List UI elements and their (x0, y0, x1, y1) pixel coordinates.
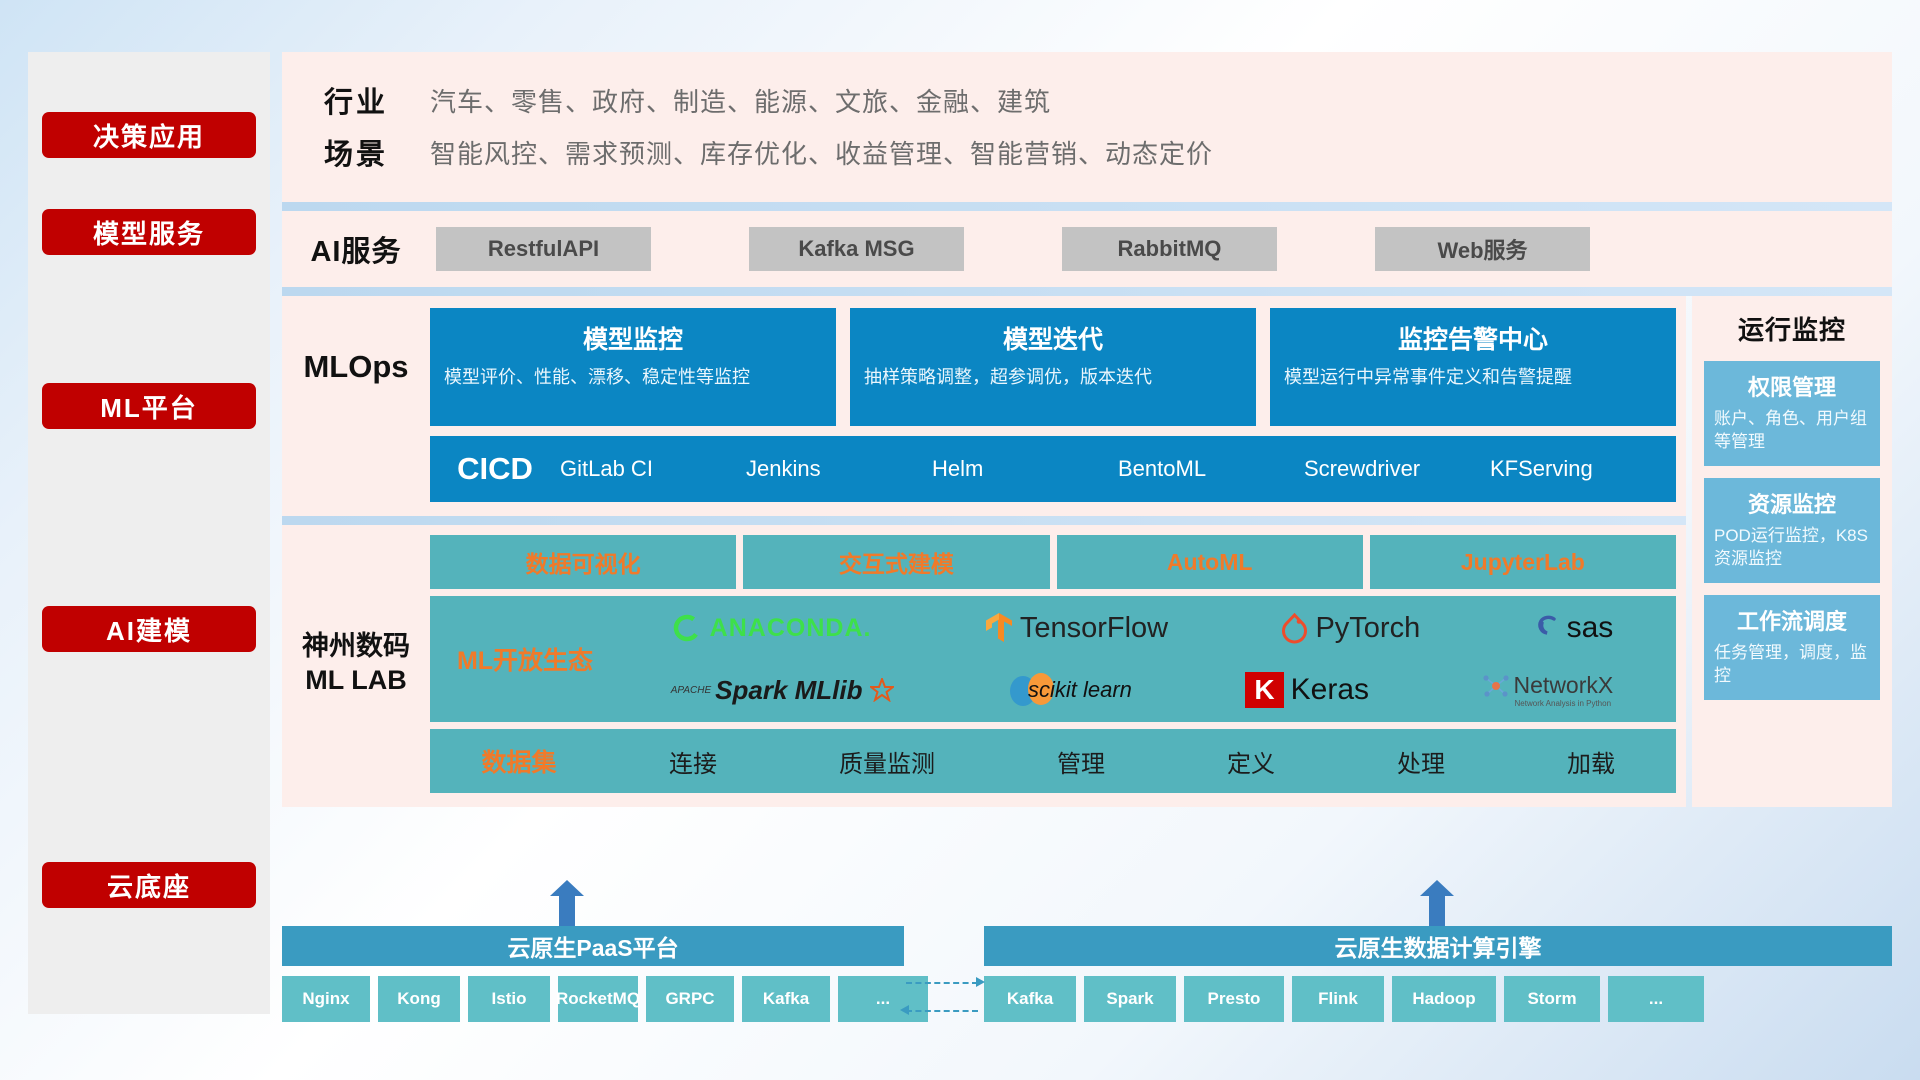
dataset-capability-connect[interactable]: 连接 (669, 744, 717, 779)
mlops-card-alert-center[interactable]: 监控告警中心 模型运行中异常事件定义和告警提醒 (1270, 308, 1676, 426)
card-desc: 模型评价、性能、漂移、稳定性等监控 (444, 365, 822, 389)
mlops-band: MLOps 模型监控 模型评价、性能、漂移、稳定性等监控 模型迭代 抽样策略调整… (282, 296, 1686, 516)
ecosystem-logo-line-2: APACHE Spark MLlib (614, 661, 1670, 719)
platform-column: MLOps 模型监控 模型评价、性能、漂移、稳定性等监控 模型迭代 抽样策略调整… (282, 296, 1686, 807)
platform-and-monitoring-section: MLOps 模型监控 模型评价、性能、漂移、稳定性等监控 模型迭代 抽样策略调整… (282, 296, 1892, 807)
scikit-learn-logo-text: scikit learn (1028, 677, 1132, 703)
rail-chip-cloud-base[interactable]: 云底座 (42, 862, 256, 908)
node-hadoop[interactable]: Hadoop (1392, 976, 1496, 1022)
sas-icon (1534, 613, 1560, 643)
ml-lab-label: 神州数码 ML LAB (282, 535, 430, 793)
card-desc: 模型运行中异常事件定义和告警提醒 (1284, 365, 1662, 389)
node-kafka-compute[interactable]: Kafka (984, 976, 1076, 1022)
ml-open-ecosystem-label: ML开放生态 (436, 641, 614, 677)
card-title: 权限管理 (1714, 370, 1870, 402)
apache-label: APACHE (671, 685, 711, 696)
ml-open-ecosystem-row: ML开放生态 ANACONDA. (430, 596, 1676, 722)
tool-chip-automl[interactable]: AutoML (1057, 535, 1363, 589)
ai-service-chip-list: RestfulAPI Kafka MSG RabbitMQ Web服务 (430, 227, 1590, 271)
arrow-up-to-platform-right (1420, 880, 1454, 926)
dataset-capability-list: 连接 质量监测 管理 定义 处理 加载 (608, 744, 1676, 779)
pytorch-icon (1281, 613, 1308, 644)
card-title: 监控告警中心 (1284, 320, 1662, 356)
monitor-card-permission-management[interactable]: 权限管理 账户、角色、用户组等管理 (1704, 361, 1880, 466)
networkx-logo: NetworkX Network Analysis in Python (1483, 672, 1614, 708)
spark-mllib-logo: APACHE Spark MLlib (671, 675, 894, 706)
node-flink[interactable]: Flink (1292, 976, 1384, 1022)
cicd-tool-gitlab-ci[interactable]: GitLab CI (560, 458, 746, 480)
service-chip-web-service[interactable]: Web服务 (1375, 227, 1590, 271)
tensorflow-logo-text: TensorFlow (1020, 612, 1168, 645)
keras-logo: K Keras (1245, 672, 1369, 708)
networkx-logo-text: NetworkX (1514, 672, 1614, 699)
rail-chip-decision-apps[interactable]: 决策应用 (42, 112, 256, 158)
mlops-card-model-iteration[interactable]: 模型迭代 抽样策略调整，超参调优，版本迭代 (850, 308, 1256, 426)
ai-service-label: AI服务 (282, 228, 430, 270)
mlops-card-list: 模型监控 模型评价、性能、漂移、稳定性等监控 模型迭代 抽样策略调整，超参调优，… (430, 308, 1686, 426)
ecosystem-logo-line-1: ANACONDA. TensorFlow (614, 599, 1670, 657)
networkx-logo-subtext: Network Analysis in Python (1515, 699, 1612, 708)
spark-mllib-logo-text: Spark MLlib (715, 675, 862, 706)
keras-logo-text: Keras (1291, 673, 1369, 707)
band-separator (282, 202, 1892, 211)
cicd-tool-helm[interactable]: Helm (932, 458, 1118, 480)
pytorch-logo-text: PyTorch (1315, 612, 1420, 645)
pytorch-logo: PyTorch (1281, 612, 1420, 645)
left-layer-rail: 决策应用 模型服务 ML平台 AI建模 云底座 (28, 52, 270, 1014)
card-title: 模型监控 (444, 320, 822, 356)
ml-lab-label-line2: ML LAB (305, 664, 407, 698)
ai-service-band: AI服务 RestfulAPI Kafka MSG RabbitMQ Web服务 (282, 211, 1892, 287)
node-rocketmq[interactable]: RocketMQ (558, 976, 638, 1022)
tensorflow-logo: TensorFlow (985, 612, 1168, 645)
mlops-card-model-monitoring[interactable]: 模型监控 模型评价、性能、漂移、稳定性等监控 (430, 308, 836, 426)
dashed-arrowhead-right (976, 977, 985, 987)
decision-applications-band: 行业 汽车、零售、政府、制造、能源、文旅、金融、建筑 场景 智能风控、需求预测、… (282, 52, 1892, 202)
architecture-main-column: 行业 汽车、零售、政府、制造、能源、文旅、金融、建筑 场景 智能风控、需求预测、… (282, 52, 1892, 807)
dashed-arrowhead-left (900, 1005, 909, 1015)
cicd-tool-list: GitLab CI Jenkins Helm BentoML Screwdriv… (560, 458, 1676, 480)
compute-node-list: Kafka Spark Presto Flink Hadoop Storm ..… (984, 976, 1704, 1022)
service-chip-restfulapi[interactable]: RestfulAPI (436, 227, 651, 271)
node-storm[interactable]: Storm (1504, 976, 1600, 1022)
rail-chip-ai-modeling[interactable]: AI建模 (42, 606, 256, 652)
mlops-top-row: MLOps 模型监控 模型评价、性能、漂移、稳定性等监控 模型迭代 抽样策略调整… (282, 308, 1686, 426)
band-separator (282, 287, 1892, 296)
data-compute-engine-bar[interactable]: 云原生数据计算引擎 (984, 926, 1892, 966)
node-presto[interactable]: Presto (1184, 976, 1284, 1022)
industry-list: 汽车、零售、政府、制造、能源、文旅、金融、建筑 (430, 82, 1051, 119)
card-desc: POD运行监控，K8S资源监控 (1714, 525, 1870, 571)
rail-chip-label: 模型服务 (93, 214, 205, 251)
sas-logo: sas (1534, 611, 1614, 645)
dataset-capability-manage[interactable]: 管理 (1057, 744, 1105, 779)
ecosystem-logo-grid: ANACONDA. TensorFlow (614, 599, 1670, 719)
cicd-bar: CICD GitLab CI Jenkins Helm BentoML Scre… (430, 436, 1676, 502)
dataset-row: 数据集 连接 质量监测 管理 定义 处理 加载 (430, 729, 1676, 793)
anaconda-logo-text: ANACONDA. (710, 614, 872, 643)
ai-modeling-band: 神州数码 ML LAB 数据可视化 交互式建模 AutoML JupyterLa… (282, 525, 1686, 807)
dataset-capability-quality[interactable]: 质量监测 (839, 744, 935, 779)
rail-chip-label: ML平台 (100, 388, 198, 425)
monitor-card-resource-monitoring[interactable]: 资源监控 POD运行监控，K8S资源监控 (1704, 478, 1880, 583)
tool-chip-interactive-modeling[interactable]: 交互式建模 (743, 535, 1049, 589)
rail-chip-model-service[interactable]: 模型服务 (42, 209, 256, 255)
dashed-connector-left (906, 1010, 978, 1012)
rail-chip-label: 云底座 (107, 867, 191, 904)
tool-chip-data-visualization[interactable]: 数据可视化 (430, 535, 736, 589)
tensorflow-icon (985, 612, 1013, 644)
cicd-tool-screwdriver[interactable]: Screwdriver (1304, 458, 1490, 480)
ml-lab-label-line1: 神州数码 (302, 630, 410, 664)
networkx-icon (1483, 674, 1509, 698)
rail-chip-ml-platform[interactable]: ML平台 (42, 383, 256, 429)
ml-tool-row: 数据可视化 交互式建模 AutoML JupyterLab (430, 535, 1676, 589)
ml-lab-body: 数据可视化 交互式建模 AutoML JupyterLab ML开放生态 (430, 535, 1686, 793)
anaconda-icon (671, 612, 703, 644)
tool-chip-jupyterlab[interactable]: JupyterLab (1370, 535, 1676, 589)
card-title: 模型迭代 (864, 320, 1242, 356)
arrow-up-to-platform-left (550, 880, 584, 926)
cicd-tool-jenkins[interactable]: Jenkins (746, 458, 932, 480)
node-kafka[interactable]: Kafka (742, 976, 830, 1022)
dataset-capability-define[interactable]: 定义 (1227, 744, 1275, 779)
dataset-capability-load[interactable]: 加载 (1567, 744, 1615, 779)
node-kong[interactable]: Kong (378, 976, 460, 1022)
sas-logo-text: sas (1567, 611, 1614, 645)
mlops-label: MLOps (282, 349, 430, 385)
node-more-right[interactable]: ... (1608, 976, 1704, 1022)
dataset-label: 数据集 (430, 743, 608, 779)
industry-label: 行业 (282, 79, 430, 121)
cicd-tool-kfserving[interactable]: KFServing (1490, 458, 1676, 480)
cicd-tool-bentoml[interactable]: BentoML (1118, 458, 1304, 480)
service-chip-rabbitmq[interactable]: RabbitMQ (1062, 227, 1277, 271)
card-desc: 抽样策略调整，超参调优，版本迭代 (864, 365, 1242, 389)
dataset-capability-process[interactable]: 处理 (1397, 744, 1445, 779)
scenario-list: 智能风控、需求预测、库存优化、收益管理、智能营销、动态定价 (430, 134, 1213, 171)
node-istio[interactable]: Istio (468, 976, 550, 1022)
paas-node-list: Nginx Kong Istio RocketMQ GRPC Kafka ... (282, 976, 928, 1022)
runtime-monitoring-title: 运行监控 (1704, 310, 1880, 347)
anaconda-logo: ANACONDA. (671, 612, 872, 644)
cloud-foundation-section: 云原生PaaS平台 云原生数据计算引擎 Nginx Kong Istio Roc… (282, 880, 1892, 1060)
rail-chip-label: AI建模 (106, 611, 192, 648)
spark-star-icon (870, 678, 894, 702)
service-chip-kafka-msg[interactable]: Kafka MSG (749, 227, 964, 271)
node-grpc[interactable]: GRPC (646, 976, 734, 1022)
card-title: 工作流调度 (1714, 604, 1870, 636)
scenario-label: 场景 (282, 131, 430, 173)
node-spark[interactable]: Spark (1084, 976, 1176, 1022)
keras-k-icon: K (1245, 672, 1283, 708)
card-desc: 账户、角色、用户组等管理 (1714, 408, 1870, 454)
band-separator (282, 516, 1686, 525)
card-title: 资源监控 (1714, 487, 1870, 519)
rail-chip-label: 决策应用 (93, 117, 205, 154)
monitor-card-workflow-scheduling[interactable]: 工作流调度 任务管理，调度，监控 (1704, 595, 1880, 700)
card-desc: 任务管理，调度，监控 (1714, 642, 1870, 688)
dashed-connector-right (906, 982, 978, 984)
scenario-row: 场景 智能风控、需求预测、库存优化、收益管理、智能营销、动态定价 (282, 126, 1892, 178)
cicd-label: CICD (430, 451, 560, 487)
node-nginx[interactable]: Nginx (282, 976, 370, 1022)
industry-row: 行业 汽车、零售、政府、制造、能源、文旅、金融、建筑 (282, 74, 1892, 126)
scikit-learn-logo: scikit learn (1007, 673, 1132, 707)
runtime-monitoring-rail: 运行监控 权限管理 账户、角色、用户组等管理 资源监控 POD运行监控，K8S资… (1692, 296, 1892, 807)
paas-platform-bar[interactable]: 云原生PaaS平台 (282, 926, 904, 966)
